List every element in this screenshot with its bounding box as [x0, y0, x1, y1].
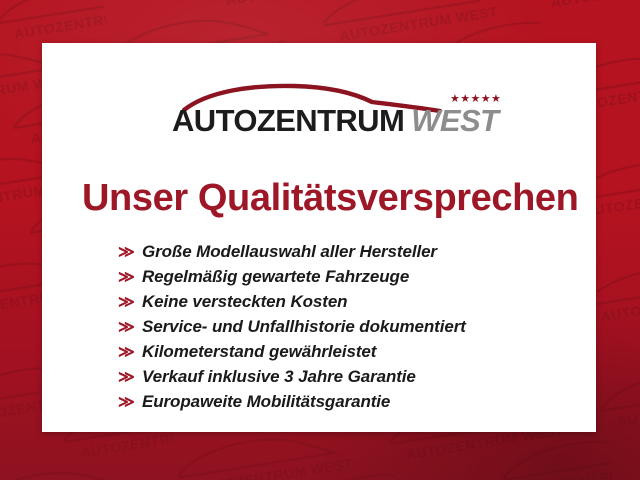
list-item-label: Kilometerstand gewährleistet	[142, 342, 376, 362]
list-item: ≫ Kilometerstand gewährleistet	[118, 342, 588, 367]
promise-list: ≫ Große Modellauswahl aller Hersteller ≫…	[118, 242, 588, 417]
chevron-double-right-icon: ≫	[118, 345, 142, 361]
logo-name-secondary: WEST	[411, 103, 498, 138]
logo-name-primary: AUTOZENTRUM	[172, 103, 404, 138]
list-item-label: Große Modellauswahl aller Hersteller	[142, 242, 437, 262]
advertisement-banner: AUTOZENTRUM WEST ★★★★★ AUTOZENTRUMWEST U…	[0, 0, 640, 480]
list-item: ≫ Keine versteckten Kosten	[118, 292, 588, 317]
list-item-label: Service- und Unfallhistorie dokumentiert	[142, 317, 466, 337]
chevron-double-right-icon: ≫	[118, 270, 142, 286]
list-item-label: Keine versteckten Kosten	[142, 292, 347, 312]
logo-wordmark: AUTOZENTRUMWEST	[172, 104, 498, 138]
list-item: ≫ Service- und Unfallhistorie dokumentie…	[118, 317, 588, 342]
page-title: Unser Qualitätsversprechen	[82, 177, 578, 220]
chevron-double-right-icon: ≫	[118, 395, 142, 411]
list-item: ≫ Große Modellauswahl aller Hersteller	[118, 242, 588, 267]
list-item: ≫ Verkauf inklusive 3 Jahre Garantie	[118, 367, 588, 392]
chevron-double-right-icon: ≫	[118, 320, 142, 336]
list-item: ≫ Regelmäßig gewartete Fahrzeuge	[118, 267, 588, 292]
chevron-double-right-icon: ≫	[118, 295, 142, 311]
white-content-card: ★★★★★ AUTOZENTRUMWEST Unser Qualitätsver…	[42, 43, 596, 432]
list-item: ≫ Europaweite Mobilitätsgarantie	[118, 392, 588, 417]
chevron-double-right-icon: ≫	[118, 370, 142, 386]
list-item-label: Europaweite Mobilitätsgarantie	[142, 392, 390, 412]
chevron-double-right-icon: ≫	[118, 245, 142, 261]
list-item-label: Regelmäßig gewartete Fahrzeuge	[142, 267, 409, 287]
autozentrum-west-logo: ★★★★★ AUTOZENTRUMWEST	[172, 83, 482, 143]
list-item-label: Verkauf inklusive 3 Jahre Garantie	[142, 367, 416, 387]
